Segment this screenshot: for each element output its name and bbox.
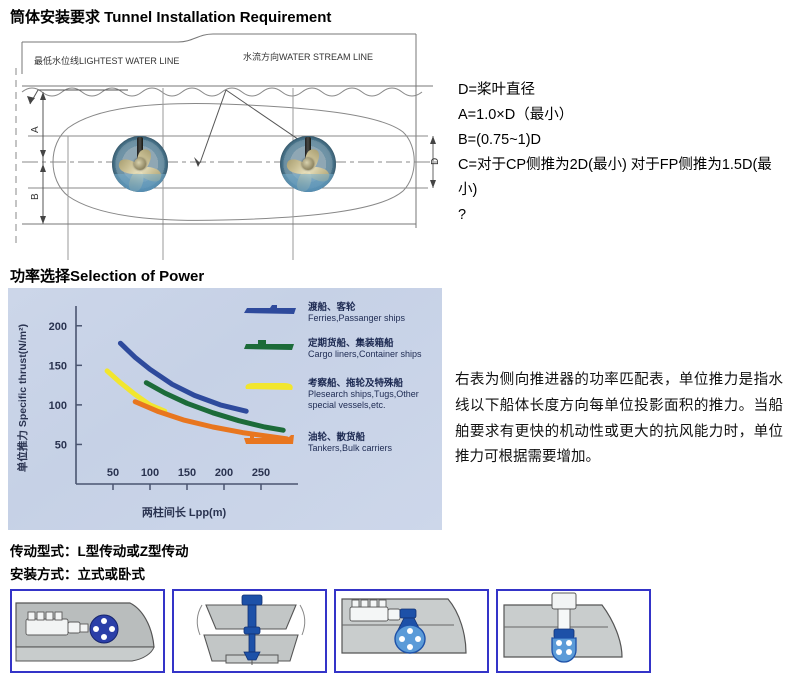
y-tick-label: 100 bbox=[49, 400, 67, 412]
x-axis-title: 两柱间长 Lpp(m) bbox=[142, 505, 227, 519]
x-tick-label: 150 bbox=[178, 467, 196, 479]
tunnel-installation-diagram: 最低水位线LIGHTEST WATER LINE 水流方向WATER STREA… bbox=[8, 28, 448, 260]
tunnel-formula-list: D=桨叶直径 A=1.0×D（最小） B=(0.75~1)D C=对于CP侧推为… bbox=[458, 78, 780, 228]
install-panel-vertical-z-drive bbox=[172, 589, 327, 673]
propeller-left bbox=[112, 136, 168, 192]
legend-label-cn: 考察船、拖轮及特殊船 bbox=[308, 377, 404, 389]
ship-silhouette-icon bbox=[245, 383, 292, 390]
legend-label-en: special vessels,etc. bbox=[308, 400, 386, 410]
y-tick-label: 50 bbox=[55, 439, 67, 451]
chart-legend-item-1: 定期货船、集装箱船Cargo liners,Container ships bbox=[244, 337, 422, 359]
y-tick-label: 200 bbox=[49, 321, 67, 333]
legend-label-en: Plesearch ships,Tugs,Other bbox=[308, 389, 419, 399]
x-tick-label: 50 bbox=[107, 467, 119, 479]
x-tick-label: 200 bbox=[215, 467, 233, 479]
transmission-type-line: 传动型式：L型传动或Z型传动 bbox=[10, 540, 189, 560]
formula-b: B=(0.75~1)D bbox=[458, 128, 780, 153]
install-panel-engine-vertical-drive bbox=[334, 589, 489, 673]
propeller-right bbox=[280, 136, 336, 192]
legend-label-cn: 定期货船、集装箱船 bbox=[307, 337, 394, 349]
formula-extra: ? bbox=[458, 203, 780, 228]
formula-d: D=桨叶直径 bbox=[458, 78, 780, 103]
power-section-heading: 功率选择Selection of Power bbox=[10, 265, 204, 286]
dimension-d-label: D bbox=[430, 158, 441, 165]
installation-arrangement-panels bbox=[10, 589, 665, 673]
tunnel-section-heading: 筒体安装要求 Tunnel Installation Requirement bbox=[10, 6, 331, 27]
legend-label-cn: 渡船、客轮 bbox=[308, 301, 356, 313]
ship-silhouette-icon bbox=[244, 305, 296, 314]
legend-label-cn: 油轮、散货船 bbox=[308, 431, 366, 443]
legend-label-en: Cargo liners,Container ships bbox=[308, 349, 422, 359]
mounting-type-line: 安装方式：立式或卧式 bbox=[10, 563, 145, 583]
install-panel-horizontal-engine bbox=[10, 589, 165, 673]
ship-silhouette-icon bbox=[244, 340, 294, 350]
power-note-paragraph: 右表为侧向推进器的功率匹配表，单位推力是指水线以下船体长度方向每单位投影面积的推… bbox=[455, 368, 783, 471]
dimension-b-label: B bbox=[30, 193, 41, 200]
y-axis-title: 单位推力 Specific thrust(N/m²) bbox=[16, 324, 29, 472]
x-tick-label: 250 bbox=[252, 467, 270, 479]
specific-thrust-chart: 5010015020025050100150200 单位推力 Specific … bbox=[8, 288, 442, 530]
x-tick-label: 100 bbox=[141, 467, 159, 479]
legend-label-en: Ferries,Passanger ships bbox=[308, 313, 406, 323]
formula-a: A=1.0×D（最小） bbox=[458, 103, 780, 128]
dimension-c-label: C bbox=[224, 259, 231, 260]
streamline-label: 水流方向WATER STREAM LINE bbox=[243, 51, 373, 62]
dimension-a-label: A bbox=[30, 126, 41, 133]
formula-c: C=对于CP侧推为2D(最小) 对于FP侧推为1.5D(最小) bbox=[458, 153, 780, 203]
legend-label-en: Tankers,Bulk carriers bbox=[308, 443, 393, 453]
chart-series-line-1 bbox=[146, 383, 283, 431]
waterline-label: 最低水位线LIGHTEST WATER LINE bbox=[34, 55, 179, 66]
chart-legend-item-0: 渡船、客轮Ferries,Passanger ships bbox=[244, 301, 406, 323]
chart-legend-item-2: 考察船、拖轮及特殊船Plesearch ships,Tugs,Otherspec… bbox=[245, 377, 418, 410]
y-tick-label: 150 bbox=[49, 360, 67, 372]
install-panel-vertical-mount bbox=[496, 589, 651, 673]
chart-series-line-2 bbox=[107, 371, 165, 411]
